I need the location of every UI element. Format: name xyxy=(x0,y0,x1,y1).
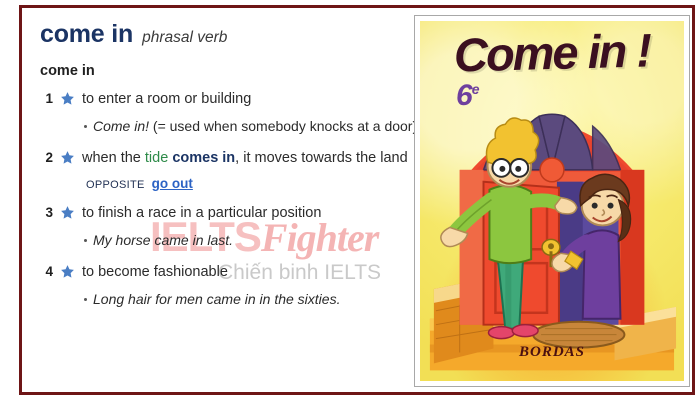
sense-item: 4 to become fashionable Long hair for me… xyxy=(40,261,420,309)
screenshot-root: IELTSFighter Chiến binh IELTS come in ph… xyxy=(0,0,700,405)
sense-list: 1 to enter a room or building Come in! (… xyxy=(40,88,420,309)
bullet-icon xyxy=(84,125,87,128)
bullet-icon xyxy=(84,239,87,242)
sense-main-row: 1 to enter a room or building xyxy=(40,88,420,110)
example-item: Long hair for men came in in the sixties… xyxy=(84,289,420,309)
example-item: My horse came in last. xyxy=(84,230,420,250)
sense-number: 3 xyxy=(40,202,53,224)
collocate-tide: tide xyxy=(145,150,168,166)
page-title: come in xyxy=(40,20,133,49)
example-text: Come in! (= used when somebody knocks at… xyxy=(93,116,417,136)
sense-item: 1 to enter a room or building Come in! (… xyxy=(40,88,420,136)
sense-definition: to finish a race in a particular positio… xyxy=(82,202,321,224)
entry-body: come in phrasal verb come in 1 to enter … xyxy=(22,8,420,392)
sense-definition: to become fashionable xyxy=(82,261,228,283)
cover-title: Come in ! xyxy=(420,22,684,84)
headword-row: come in phrasal verb xyxy=(40,20,420,49)
example-text: My horse came in last. xyxy=(93,230,233,250)
sense-item: 2 when the tide comes in, it moves towar… xyxy=(40,147,420,191)
opposite-label: OPPOSITE xyxy=(86,179,145,191)
example-item: Come in! (= used when somebody knocks at… xyxy=(84,116,420,136)
sense-number: 2 xyxy=(40,147,53,169)
star-icon xyxy=(60,205,75,220)
sense-number: 1 xyxy=(40,88,53,110)
bullet-icon xyxy=(84,298,87,301)
sense-main-row: 4 to become fashionable xyxy=(40,261,420,283)
book-cover-image: Come in ! 6e BORDAS xyxy=(420,21,684,381)
sense-item: 3 to finish a race in a particular posit… xyxy=(40,202,420,250)
collocate-comes-in: comes in xyxy=(172,150,235,166)
star-icon xyxy=(60,91,75,106)
example-text: Long hair for men came in in the sixties… xyxy=(93,289,340,309)
publisher-logo: BORDAS xyxy=(420,344,684,361)
cover-edition: 6e xyxy=(456,79,478,113)
dictionary-card: IELTSFighter Chiến binh IELTS come in ph… xyxy=(19,5,695,395)
sense-number: 4 xyxy=(40,261,53,283)
sense-main-row: 3 to finish a race in a particular posit… xyxy=(40,202,420,224)
star-icon xyxy=(60,150,75,165)
illustration-panel: Come in ! 6e BORDAS xyxy=(414,15,690,387)
part-of-speech-label: phrasal verb xyxy=(142,29,227,47)
sense-main-row: 2 when the tide comes in, it moves towar… xyxy=(40,147,420,169)
sense-definition: when the tide comes in, it moves towards… xyxy=(82,147,408,169)
star-icon xyxy=(60,264,75,279)
sense-definition: to enter a room or building xyxy=(82,88,251,110)
opposite-row: OPPOSITE go out xyxy=(86,176,420,191)
sub-headword: come in xyxy=(40,63,420,79)
opposite-link-go-out[interactable]: go out xyxy=(152,176,193,191)
